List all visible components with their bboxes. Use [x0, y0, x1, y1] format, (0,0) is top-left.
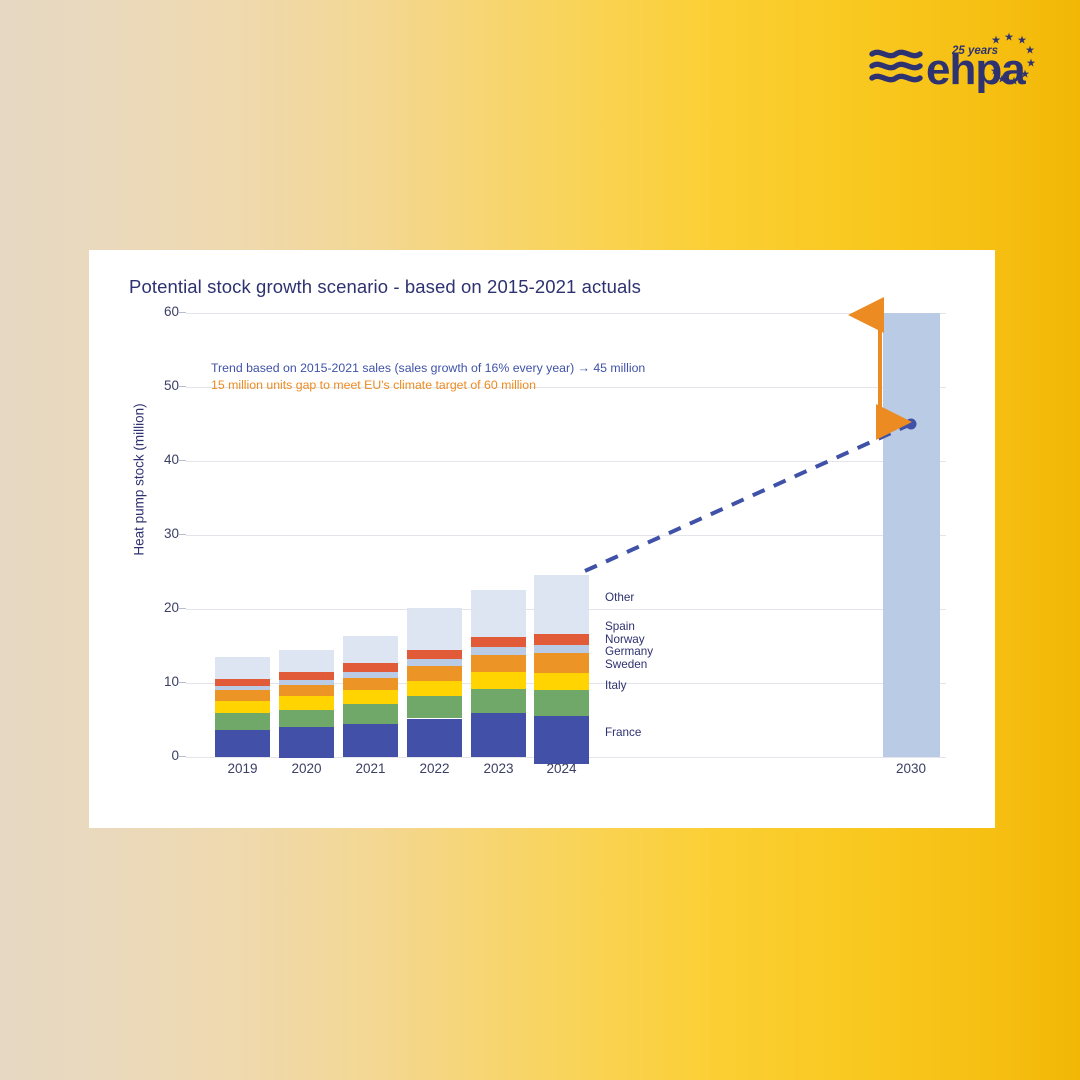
- bar-segment[interactable]: [471, 655, 526, 672]
- bar-segment[interactable]: [343, 704, 398, 723]
- stacked-bar[interactable]: [471, 590, 526, 757]
- bar-segment[interactable]: [534, 690, 589, 716]
- bar-segment[interactable]: [534, 716, 589, 764]
- ehpa-logo: ehpa 25 years: [868, 28, 1038, 100]
- bar-segment[interactable]: [471, 647, 526, 654]
- x-axis-label: 2024: [522, 761, 602, 776]
- bar-segment[interactable]: [407, 608, 462, 649]
- bar-segment[interactable]: [471, 689, 526, 713]
- bar-segment[interactable]: [215, 701, 270, 714]
- bar-segment[interactable]: [279, 727, 334, 757]
- series-label-spain: Spain: [605, 620, 635, 633]
- y-axis-title: Heat pump stock (million): [132, 390, 147, 570]
- stacked-bar[interactable]: [279, 650, 334, 757]
- bar-segment[interactable]: [343, 678, 398, 691]
- y-axis-tick-label: 0: [139, 748, 179, 763]
- x-axis-label: 2030: [871, 761, 951, 776]
- tick-mark: [179, 608, 186, 609]
- bar-segment[interactable]: [343, 690, 398, 704]
- bar-segment[interactable]: [534, 645, 589, 653]
- target-bar-2030[interactable]: [883, 313, 940, 757]
- stacked-bar[interactable]: [343, 636, 398, 757]
- gridline: [186, 313, 946, 314]
- stacked-bar[interactable]: [407, 608, 462, 757]
- bar-segment[interactable]: [215, 657, 270, 678]
- y-axis-tick-label: 10: [139, 674, 179, 689]
- tick-mark: [179, 460, 186, 461]
- bar-segment[interactable]: [407, 650, 462, 660]
- annotation-gap: 15 million units gap to meet EU's climat…: [211, 377, 645, 394]
- stacked-bar[interactable]: [534, 575, 589, 757]
- bar-segment[interactable]: [215, 679, 270, 686]
- bar-segment[interactable]: [343, 636, 398, 663]
- plot-area: Heat pump stock (million) 0102030405060 …: [89, 250, 995, 828]
- ehpa-waves-logo: ehpa 25 years: [868, 28, 1038, 100]
- gridline: [186, 535, 946, 536]
- annotation-trend: Trend based on 2015-2021 sales (sales gr…: [211, 360, 645, 377]
- bar-segment[interactable]: [407, 681, 462, 697]
- bar-segment[interactable]: [279, 672, 334, 680]
- bar-segment[interactable]: [215, 730, 270, 757]
- y-axis-tick-label: 40: [139, 452, 179, 467]
- chart-card: Potential stock growth scenario - based …: [89, 250, 995, 828]
- bar-segment[interactable]: [215, 690, 270, 700]
- y-axis-tick-label: 60: [139, 304, 179, 319]
- bar-segment[interactable]: [534, 634, 589, 645]
- bar-segment[interactable]: [343, 724, 398, 757]
- bar-segment[interactable]: [407, 666, 462, 681]
- series-label-france: France: [605, 726, 641, 739]
- bar-segment[interactable]: [279, 710, 334, 728]
- bar-segment[interactable]: [279, 696, 334, 709]
- bar-segment[interactable]: [534, 653, 589, 672]
- bar-segment[interactable]: [407, 719, 462, 757]
- series-label-sweden: Sweden: [605, 658, 647, 671]
- bar-segment[interactable]: [279, 685, 334, 696]
- series-label-germany: Germany: [605, 645, 653, 658]
- stacked-bar[interactable]: [215, 657, 270, 757]
- bar-segment[interactable]: [407, 696, 462, 718]
- tick-mark: [179, 682, 186, 683]
- series-label-norway: Norway: [605, 633, 645, 646]
- bar-segment[interactable]: [343, 663, 398, 672]
- bar-segment[interactable]: [471, 672, 526, 689]
- svg-text:25 years: 25 years: [951, 45, 998, 57]
- bar-segment[interactable]: [279, 650, 334, 672]
- tick-mark: [179, 386, 186, 387]
- y-axis-tick-label: 20: [139, 600, 179, 615]
- trend-dashed-line: [585, 424, 911, 571]
- gridline: [186, 461, 946, 462]
- tick-mark: [179, 312, 186, 313]
- series-label-italy: Italy: [605, 679, 626, 692]
- bar-segment[interactable]: [471, 713, 526, 757]
- bar-segment[interactable]: [534, 673, 589, 691]
- series-label-other: Other: [605, 591, 634, 604]
- y-axis-tick-label: 30: [139, 526, 179, 541]
- y-axis-tick-label: 50: [139, 378, 179, 393]
- bar-segment[interactable]: [407, 659, 462, 666]
- bar-segment[interactable]: [215, 713, 270, 729]
- bar-segment[interactable]: [471, 637, 526, 647]
- tick-mark: [179, 756, 186, 757]
- bar-segment[interactable]: [471, 590, 526, 637]
- annotations: Trend based on 2015-2021 sales (sales gr…: [211, 360, 645, 394]
- bar-segment[interactable]: [534, 575, 589, 634]
- tick-mark: [179, 534, 186, 535]
